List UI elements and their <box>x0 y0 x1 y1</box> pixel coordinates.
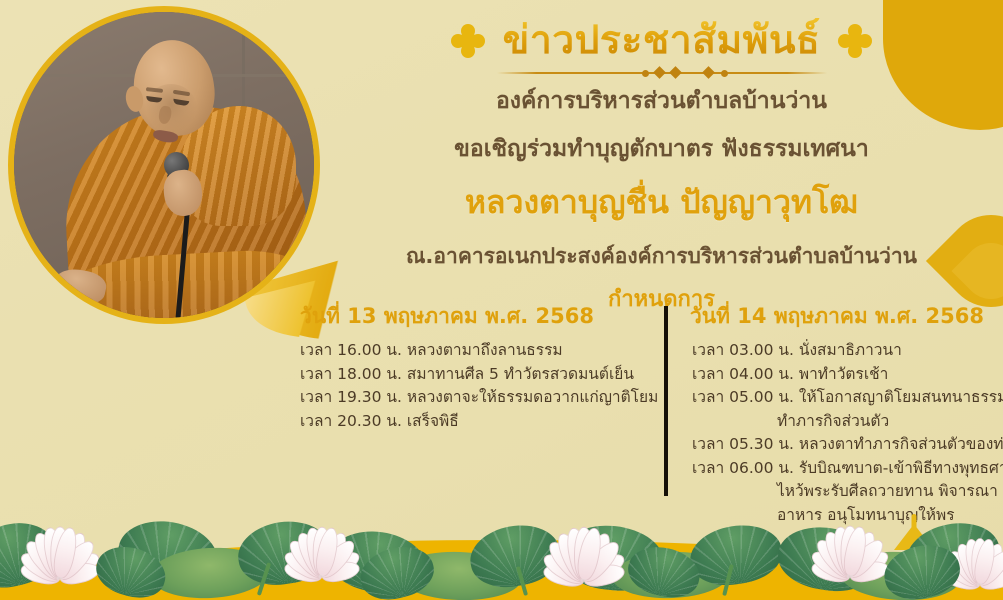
schedule-item-text: เวลา 04.00 น. พาทำวัตรเช้า <box>692 365 888 383</box>
schedule-item: เวลา 04.00 น. พาทำวัตรเช้า <box>692 363 1003 387</box>
schedule-item-text: เวลา 19.30 น. หลวงตาจะให้ธรรมดอวากแก่ญาต… <box>300 388 658 406</box>
lotus-flower <box>278 514 366 576</box>
invitation-text: ขอเชิญร่วมทำบุญตักบาตร ฟังธรรมเทศนา <box>330 131 993 167</box>
lotus-flower <box>805 513 895 576</box>
lotus-flower <box>14 514 106 578</box>
lotus-decoration-band <box>0 480 1003 600</box>
schedule-item-text: เวลา 06.00 น. รับบิณฑบาต-เข้าพิธีทางพุทธ… <box>692 459 1003 477</box>
schedule-item: เวลา 05.00 น. ให้โอกาสญาติโยมสนทนาธรรมแล… <box>692 386 1003 433</box>
monk-portrait <box>8 6 320 324</box>
schedule-item-text: เวลา 20.30 น. เสร็จพิธี <box>300 412 459 430</box>
schedule-item: เวลา 19.30 น. หลวงตาจะให้ธรรมดอวากแก่ญาต… <box>300 386 648 410</box>
poster-header: ข่าวประชาสัมพันธ์ องค์การบริหารส่วนตำบลบ… <box>330 18 993 316</box>
title-row: ข่าวประชาสัมพันธ์ <box>330 18 993 63</box>
schedule-item: เวลา 05.30 น. หลวงตาทำภารกิจส่วนตัวของท่… <box>692 433 1003 457</box>
schedule-item: เวลา 16.00 น. หลวงตามาถึงลานธรรม <box>300 339 648 363</box>
schedule-item-continuation: ทำภารกิจส่วนตัว <box>692 410 1003 434</box>
poster-canvas: ข่าวประชาสัมพันธ์ องค์การบริหารส่วนตำบลบ… <box>0 0 1003 600</box>
schedule-item-text: เวลา 18.00 น. สมาทานศีล 5 ทำวัตรสวดมนต์เ… <box>300 365 634 383</box>
schedule-item: เวลา 03.00 น. นั่งสมาธิภาวนา <box>692 339 1003 363</box>
quatrefoil-icon-left <box>451 24 485 58</box>
venue-text: ณ.อาคารอเนกประสงค์องค์การบริหารส่วนตำบลบ… <box>330 240 993 273</box>
quatrefoil-icon-right <box>838 24 872 58</box>
schedule-item-text: เวลา 03.00 น. นั่งสมาธิภาวนา <box>692 341 902 359</box>
schedule-item-text: เวลา 05.30 น. หลวงตาทำภารกิจส่วนตัวของท่… <box>692 435 1003 453</box>
title-divider-ornament <box>497 67 827 79</box>
schedule-item: เวลา 18.00 น. สมาทานศีล 5 ทำวัตรสวดมนต์เ… <box>300 363 648 387</box>
page-title: ข่าวประชาสัมพันธ์ <box>503 18 821 63</box>
lotus-flower <box>537 514 632 581</box>
schedule-item-text: เวลา 05.00 น. ให้โอกาสญาติโยมสนทนาธรรมแล… <box>692 388 1003 406</box>
monk-name: หลวงตาบุญชื่น ปัญญาวุทโฒ <box>330 177 993 228</box>
day1-title: วันที่ 13 พฤษภาคม พ.ศ. 2568 <box>300 300 648 333</box>
organization-name: องค์การบริหารส่วนตำบลบ้านว่าน <box>330 83 993 119</box>
schedule-item: เวลา 20.30 น. เสร็จพิธี <box>300 410 648 434</box>
day1-items: เวลา 16.00 น. หลวงตามาถึงลานธรรมเวลา 18.… <box>300 339 648 433</box>
monk-portrait-image <box>14 12 314 318</box>
day2-title: วันที่ 14 พฤษภาคม พ.ศ. 2568 <box>690 300 1003 333</box>
schedule-item-text: เวลา 16.00 น. หลวงตามาถึงลานธรรม <box>300 341 563 359</box>
